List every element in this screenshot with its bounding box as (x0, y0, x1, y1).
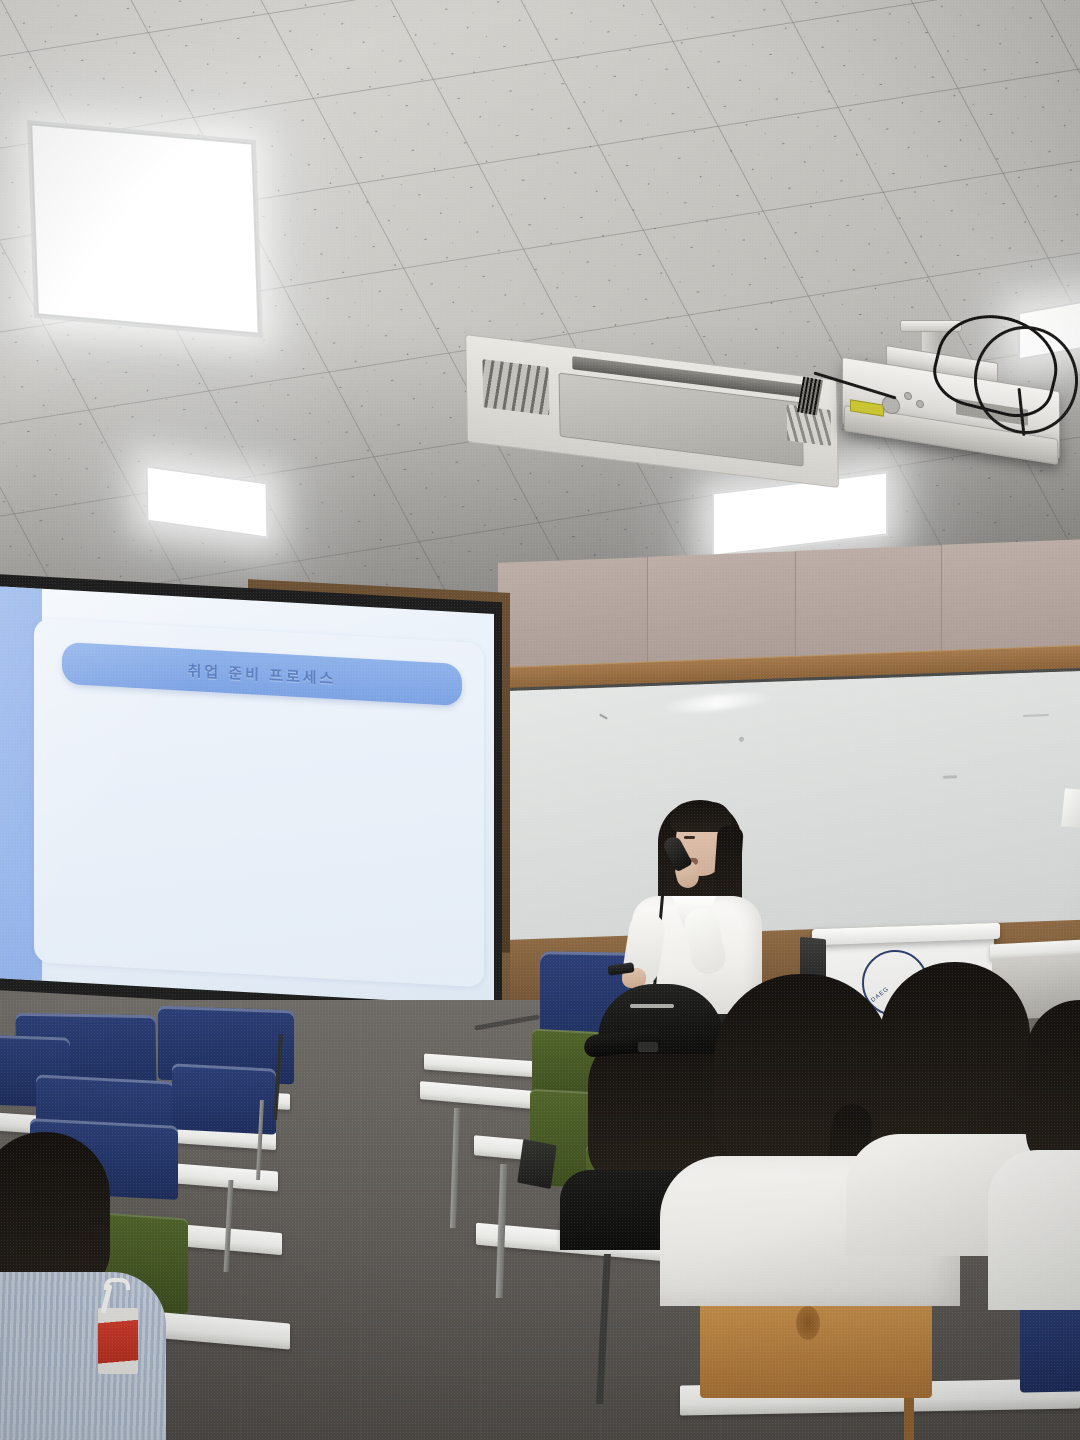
ceiling-mounted-projector (824, 318, 1074, 468)
wall-panel-3 (796, 545, 942, 665)
juice-straw-bend (104, 1278, 130, 1290)
chair-wood-grain (796, 1306, 820, 1340)
classroom-photo: 취업 준비 프로세스 ① 자기탐색 - 흥미 - 적성 - 가치관 (0, 0, 1080, 1440)
whiteboard-mark-2 (943, 775, 957, 778)
projector-button-1[interactable] (904, 391, 912, 400)
wall-panel-4 (942, 539, 1080, 660)
slide-projection-sheen (0, 586, 494, 1006)
projector-button-2[interactable] (916, 399, 924, 408)
ceiling-light-panel-1 (30, 123, 260, 334)
black-cap-text (630, 1004, 674, 1008)
presenter-eye (684, 836, 695, 839)
whiteboard-mark-1 (599, 714, 608, 720)
wall-panel-1 (498, 557, 648, 671)
presentation-slide: 취업 준비 프로세스 ① 자기탐색 - 흥미 - 적성 - 가치관 (0, 586, 494, 1006)
student-right-edge (1014, 1000, 1080, 1300)
juice-box (98, 1308, 138, 1374)
light-diffuser (35, 129, 254, 330)
student-fg-hair (0, 1132, 110, 1292)
wall-panel-2 (648, 551, 796, 669)
whiteboard-paper-corner (1061, 788, 1080, 827)
whiteboard-smudge (739, 737, 744, 742)
tablet-on-desk (517, 1139, 557, 1189)
whiteboard (500, 668, 1080, 950)
light-diffuser (151, 471, 264, 533)
whiteboard-mark-3 (1023, 714, 1049, 717)
student-edge-hair (1026, 1000, 1080, 1170)
whiteboard-glare (661, 690, 774, 716)
chair-wood-leg (904, 1398, 914, 1440)
black-cap-strap (638, 1042, 658, 1052)
student-foreground-left (0, 1132, 180, 1440)
student-edge-top (988, 1150, 1080, 1310)
student-fg-shirt (0, 1272, 166, 1440)
aircon-side-louver (482, 359, 549, 415)
